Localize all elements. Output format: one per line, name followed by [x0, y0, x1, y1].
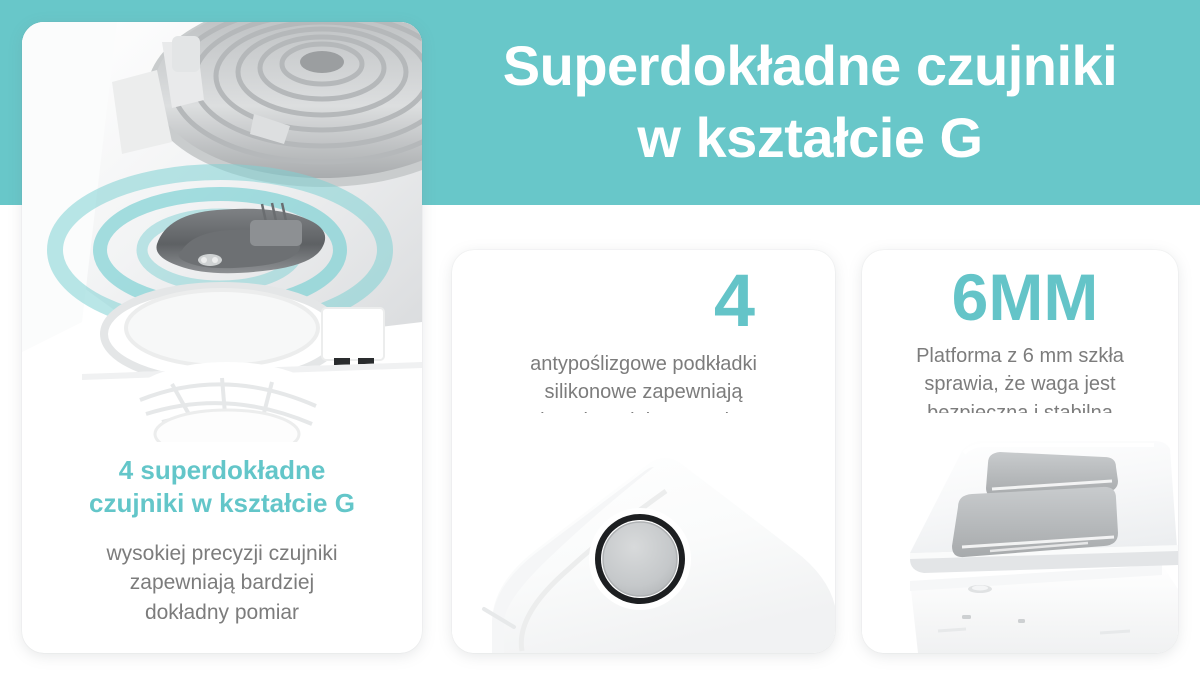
left-card-body: wysokiej precyzji czujniki zapewniają ba… [44, 539, 400, 628]
scale-internal-g-sensor-photo [22, 22, 422, 442]
page-title: Superdokładne czujniki w kształcie G [430, 30, 1190, 173]
left-card-text-block: 4 superdokładne czujniki w kształcie G w… [22, 454, 422, 628]
scale-silicone-foot-pad-photo [452, 413, 835, 653]
feature-card-silicone-pads[interactable]: 4 antypoślizgowe podkładki silikonowe za… [452, 250, 835, 653]
middle-card-stat-number: 4 [452, 264, 835, 338]
scale-glass-platform-photo [862, 413, 1178, 653]
left-card-heading: 4 superdokładne czujniki w kształcie G [44, 454, 400, 521]
feature-card-sensors[interactable]: 4 superdokładne czujniki w kształcie G w… [22, 22, 422, 653]
feature-card-glass-platform[interactable]: 6MM Platforma z 6 mm szkła sprawia, że w… [862, 250, 1178, 653]
right-card-stat-number: 6MM [862, 264, 1178, 330]
silicone-pad-illustration [452, 413, 835, 653]
g-sensor-illustration [22, 22, 422, 442]
glass-platform-illustration [862, 413, 1178, 653]
